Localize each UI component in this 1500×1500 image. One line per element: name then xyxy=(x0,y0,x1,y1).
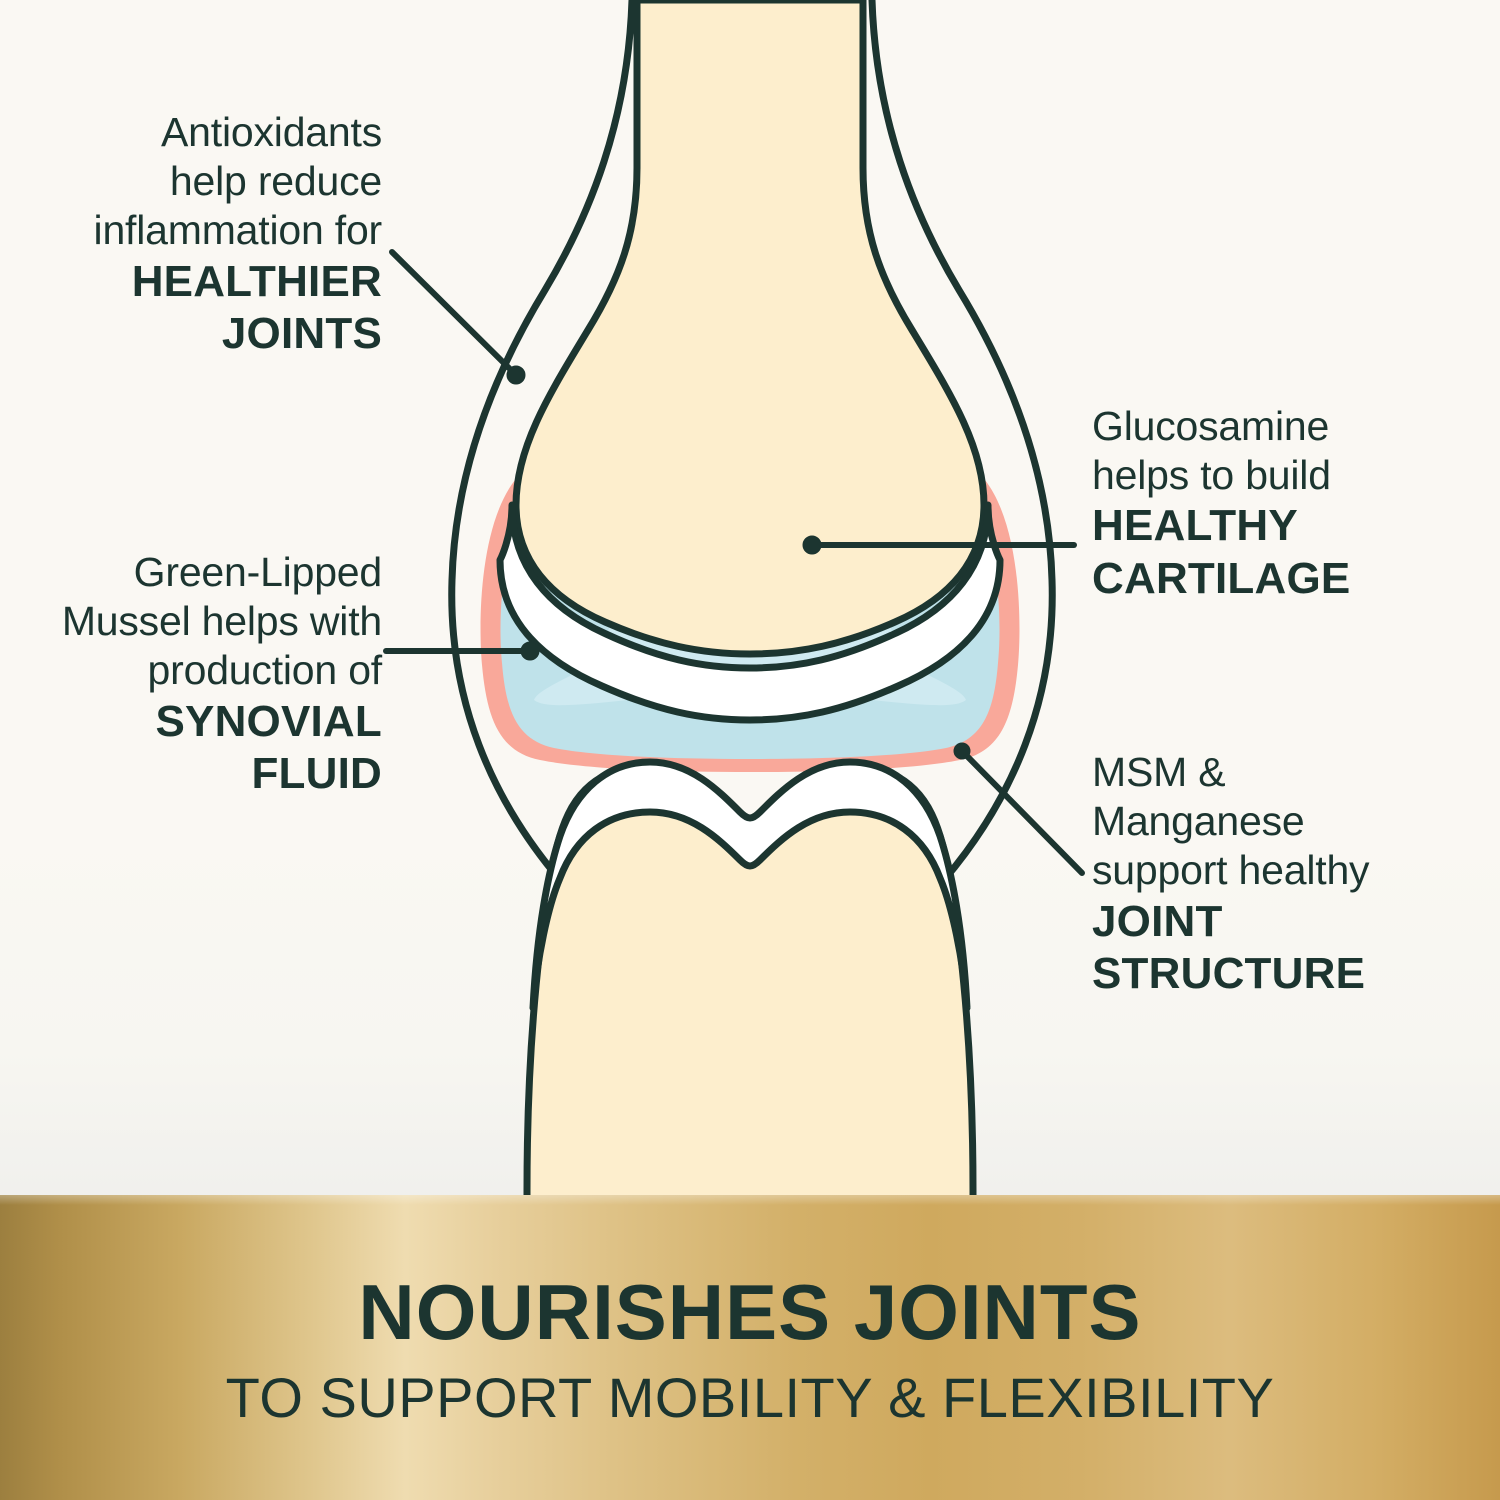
callout-green-lipped-mussel: Green-Lipped Mussel helps with productio… xyxy=(20,548,382,801)
banner-headline: NOURISHES JOINTS xyxy=(0,1273,1500,1351)
callout-mussel-bold2: FLUID xyxy=(20,748,382,801)
synovial-fluid xyxy=(500,440,999,759)
callout-mussel-line2: Mussel helps with xyxy=(20,597,382,646)
callout-msm-bold2: STRUCTURE xyxy=(1092,948,1492,1001)
upper-bone xyxy=(516,0,984,654)
gold-banner: NOURISHES JOINTS TO SUPPORT MOBILITY & F… xyxy=(0,1195,1500,1500)
callout-glucosamine-bold2: CARTILAGE xyxy=(1092,553,1492,606)
callout-glucosamine-line2: helps to build xyxy=(1092,451,1492,500)
joint-health-infographic: Antioxidants help reduce inflammation fo… xyxy=(0,0,1500,1500)
banner-subline: TO SUPPORT MOBILITY & FLEXIBILITY xyxy=(0,1369,1500,1428)
callout-msm-line1: MSM & xyxy=(1092,748,1492,797)
callout-msm-manganese: MSM & Manganese support healthy JOINT ST… xyxy=(1092,748,1492,1001)
callout-msm-line2: Manganese xyxy=(1092,797,1492,846)
callout-antioxidants-line2: help reduce xyxy=(20,157,382,206)
callout-msm-line3: support healthy xyxy=(1092,846,1492,895)
upper-cartilage xyxy=(500,505,1000,720)
callout-antioxidants-bold2: JOINTS xyxy=(20,308,382,361)
leader-line-antioxidants xyxy=(392,252,525,384)
leader-line-glucosamine xyxy=(803,536,1074,554)
leader-line-mussel xyxy=(386,642,539,660)
joint-capsule xyxy=(481,418,1020,772)
callout-mussel-line1: Green-Lipped xyxy=(20,548,382,597)
callout-glucosamine-bold1: HEALTHY xyxy=(1092,500,1492,553)
callout-antioxidants-line1: Antioxidants xyxy=(20,108,382,157)
callout-mussel-line3: production of xyxy=(20,646,382,695)
leader-line-msm xyxy=(954,743,1082,873)
callout-mussel-bold1: SYNOVIAL xyxy=(20,696,382,749)
callout-glucosamine: Glucosamine helps to build HEALTHY CARTI… xyxy=(1092,402,1492,606)
callout-antioxidants-bold1: HEALTHIER xyxy=(20,256,382,309)
callout-antioxidants-line3: inflammation for xyxy=(20,206,382,255)
callout-msm-bold1: JOINT xyxy=(1092,896,1492,949)
callout-antioxidants: Antioxidants help reduce inflammation fo… xyxy=(20,108,382,361)
leader-lines xyxy=(386,252,1082,873)
banner-text-block: NOURISHES JOINTS TO SUPPORT MOBILITY & F… xyxy=(0,1273,1500,1428)
callout-glucosamine-line1: Glucosamine xyxy=(1092,402,1492,451)
lower-cartilage xyxy=(533,762,967,1008)
